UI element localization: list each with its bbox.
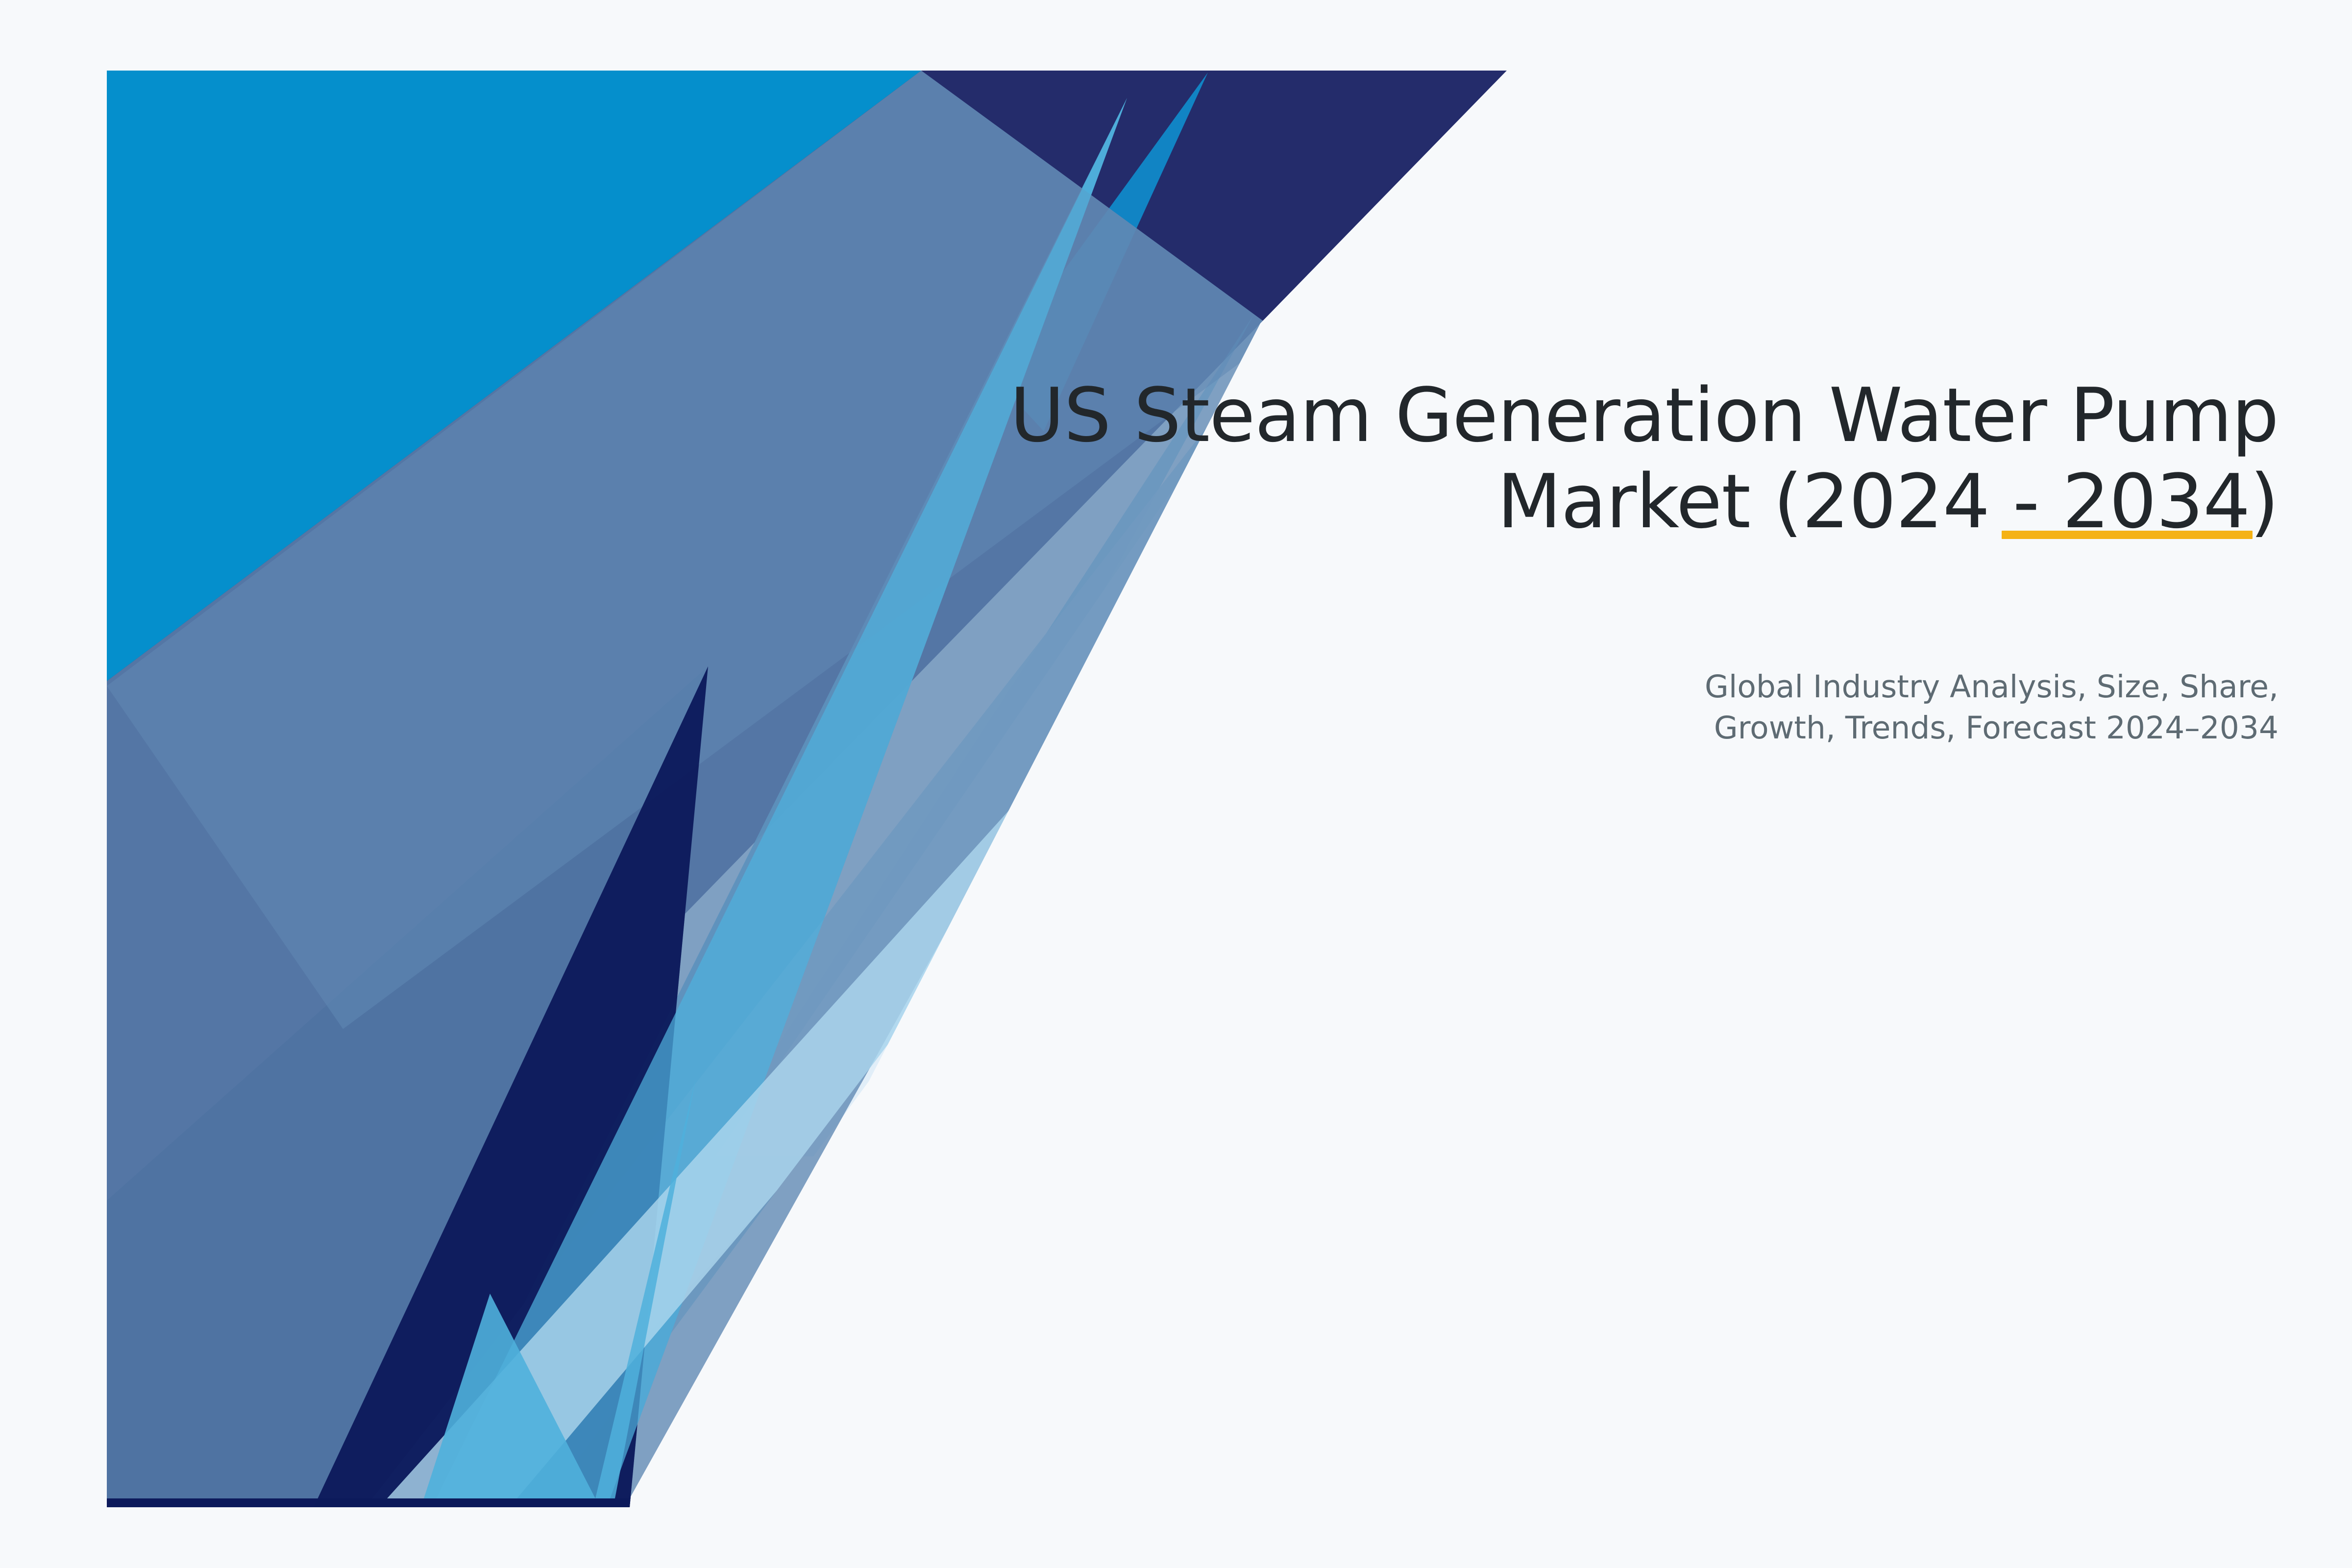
- cover-artwork: [0, 0, 2352, 1568]
- title-accent-underline: [2002, 531, 2253, 539]
- artwork-clip-left: [0, 0, 107, 1568]
- page-subtitle: Global Industry Analysis, Size, Share, G…: [1627, 666, 2278, 749]
- artwork-clip-top: [0, 0, 2352, 71]
- report-cover-page: US Steam Generation Water Pump Market (2…: [0, 0, 2352, 1568]
- page-title: US Steam Generation Water Pump Market (2…: [911, 372, 2278, 545]
- cover-text-block: US Steam Generation Water Pump Market (2…: [911, 372, 2278, 545]
